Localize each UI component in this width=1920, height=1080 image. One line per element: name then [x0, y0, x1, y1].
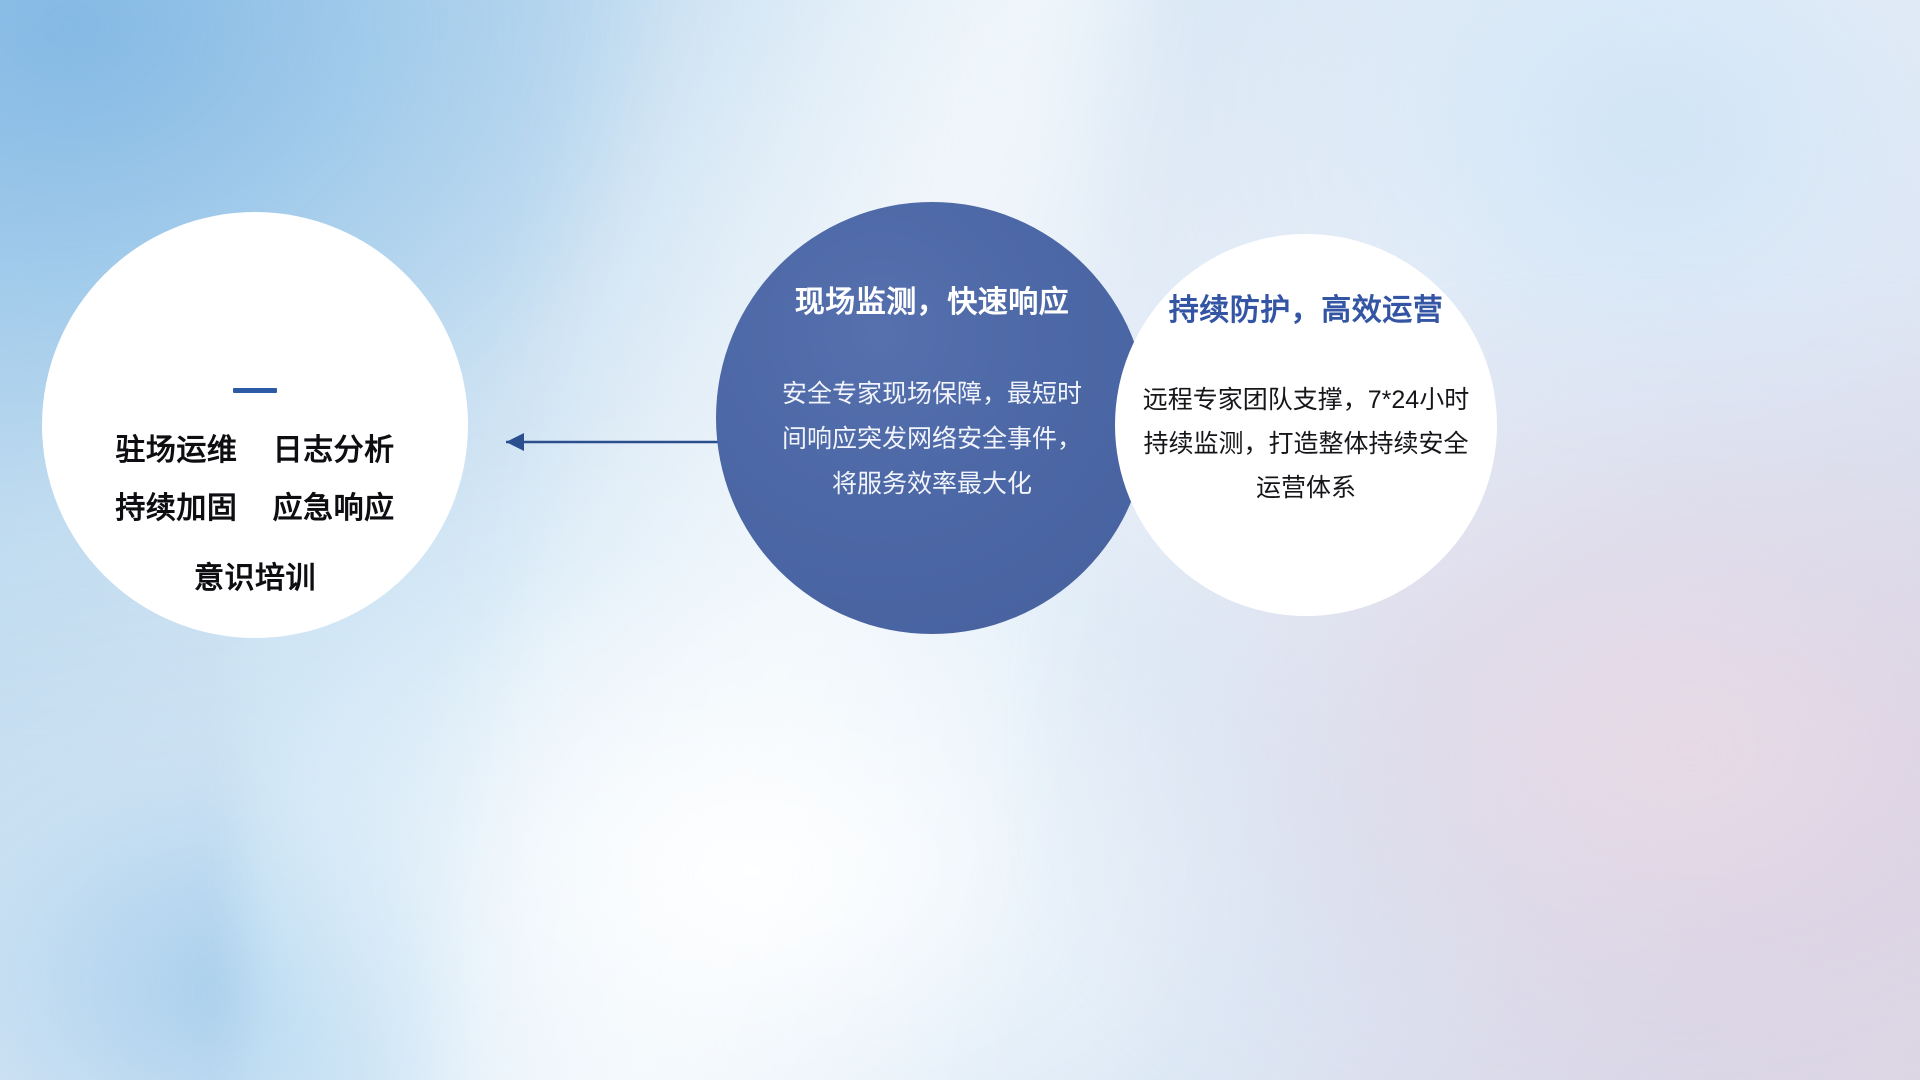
node-body-continuous-protection: 远程专家团队支撑，7*24小时持续监测，打造整体持续安全运营体系	[1141, 378, 1471, 510]
divider-dash	[233, 388, 277, 393]
diagram-canvas: 驻场运维 日志分析 持续加固 应急响应 意识培训 现场监测，快速响应 安全专家现…	[0, 0, 1920, 1080]
node-body-onsite-monitoring: 安全专家现场保障，最短时间响应突发网络安全事件，将服务效率最大化	[782, 372, 1082, 507]
capability-line-2: 持续加固 应急响应	[115, 494, 394, 524]
node-title-continuous-protection: 持续防护，高效运营	[1169, 296, 1444, 326]
circle-node-capabilities[interactable]: 驻场运维 日志分析 持续加固 应急响应 意识培训	[42, 212, 468, 638]
circle-node-continuous-protection[interactable]: 持续防护，高效运营 远程专家团队支撑，7*24小时持续监测，打造整体持续安全运营…	[1115, 234, 1497, 616]
capability-line-3: 意识培训	[194, 564, 316, 594]
circle-node-onsite-monitoring[interactable]: 现场监测，快速响应 安全专家现场保障，最短时间响应突发网络安全事件，将服务效率最…	[716, 202, 1148, 634]
arrow-left-icon	[470, 400, 730, 490]
capability-line-1: 驻场运维 日志分析	[115, 436, 394, 466]
node-title-onsite-monitoring: 现场监测，快速响应	[795, 288, 1070, 318]
